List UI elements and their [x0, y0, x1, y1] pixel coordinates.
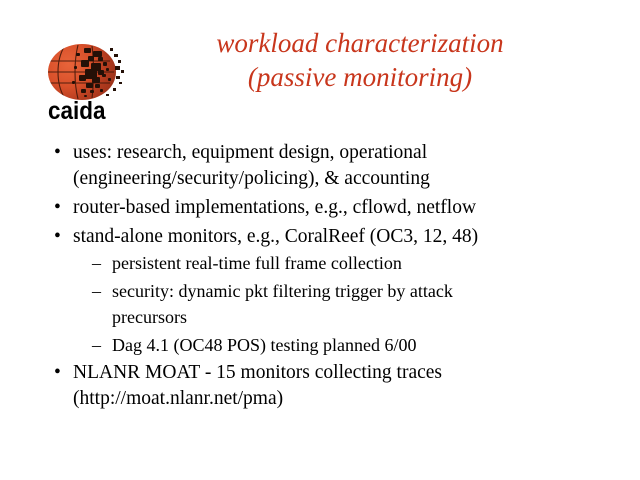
bullet-text: stand-alone monitors, e.g., CoralReef (O… [73, 224, 610, 250]
sub-bullet-item: – persistent real-time full frame collec… [50, 250, 610, 276]
presentation-slide: caida workload characterization (passive… [0, 0, 640, 480]
bullet-text: (http://moat.nlanr.net/pma) [73, 386, 610, 412]
bullet-item: • stand-alone monitors, e.g., CoralReef … [50, 224, 610, 250]
slide-body: • uses: research, equipment design, oper… [50, 140, 610, 415]
bullet-text: (engineering/security/policing), & accou… [73, 166, 610, 192]
bullet-item: • uses: research, equipment design, oper… [50, 140, 610, 192]
sub-bullet-marker-icon: – [92, 250, 101, 276]
sub-bullet-text: persistent real-time full frame collecti… [112, 250, 610, 276]
sub-bullet-marker-icon: – [92, 278, 101, 304]
sub-bullet-text: Dag 4.1 (OC48 POS) testing planned 6/00 [112, 332, 610, 358]
slide-title-line-1: workload characterization [90, 26, 630, 60]
sub-bullet-item: – security: dynamic pkt filtering trigge… [50, 278, 610, 330]
bullet-marker-icon: • [54, 195, 61, 221]
sub-bullet-marker-icon: – [92, 332, 101, 358]
sub-bullet-item: – Dag 4.1 (OC48 POS) testing planned 6/0… [50, 332, 610, 358]
caida-wordmark: caida [48, 99, 106, 124]
bullet-text: NLANR MOAT - 15 monitors collecting trac… [73, 360, 610, 386]
sub-bullet-text: security: dynamic pkt filtering trigger … [112, 278, 610, 304]
bullet-marker-icon: • [54, 224, 61, 250]
bullet-text: uses: research, equipment design, operat… [73, 140, 610, 166]
slide-title-line-2: (passive monitoring) [90, 60, 630, 94]
bullet-item: • NLANR MOAT - 15 monitors collecting tr… [50, 360, 610, 412]
sub-bullet-text: precursors [112, 304, 610, 330]
bullet-text: router-based implementations, e.g., cflo… [73, 195, 610, 221]
slide-title: workload characterization (passive monit… [90, 26, 630, 94]
bullet-marker-icon: • [54, 140, 61, 166]
bullet-item: • router-based implementations, e.g., cf… [50, 195, 610, 221]
bullet-marker-icon: • [54, 360, 61, 386]
